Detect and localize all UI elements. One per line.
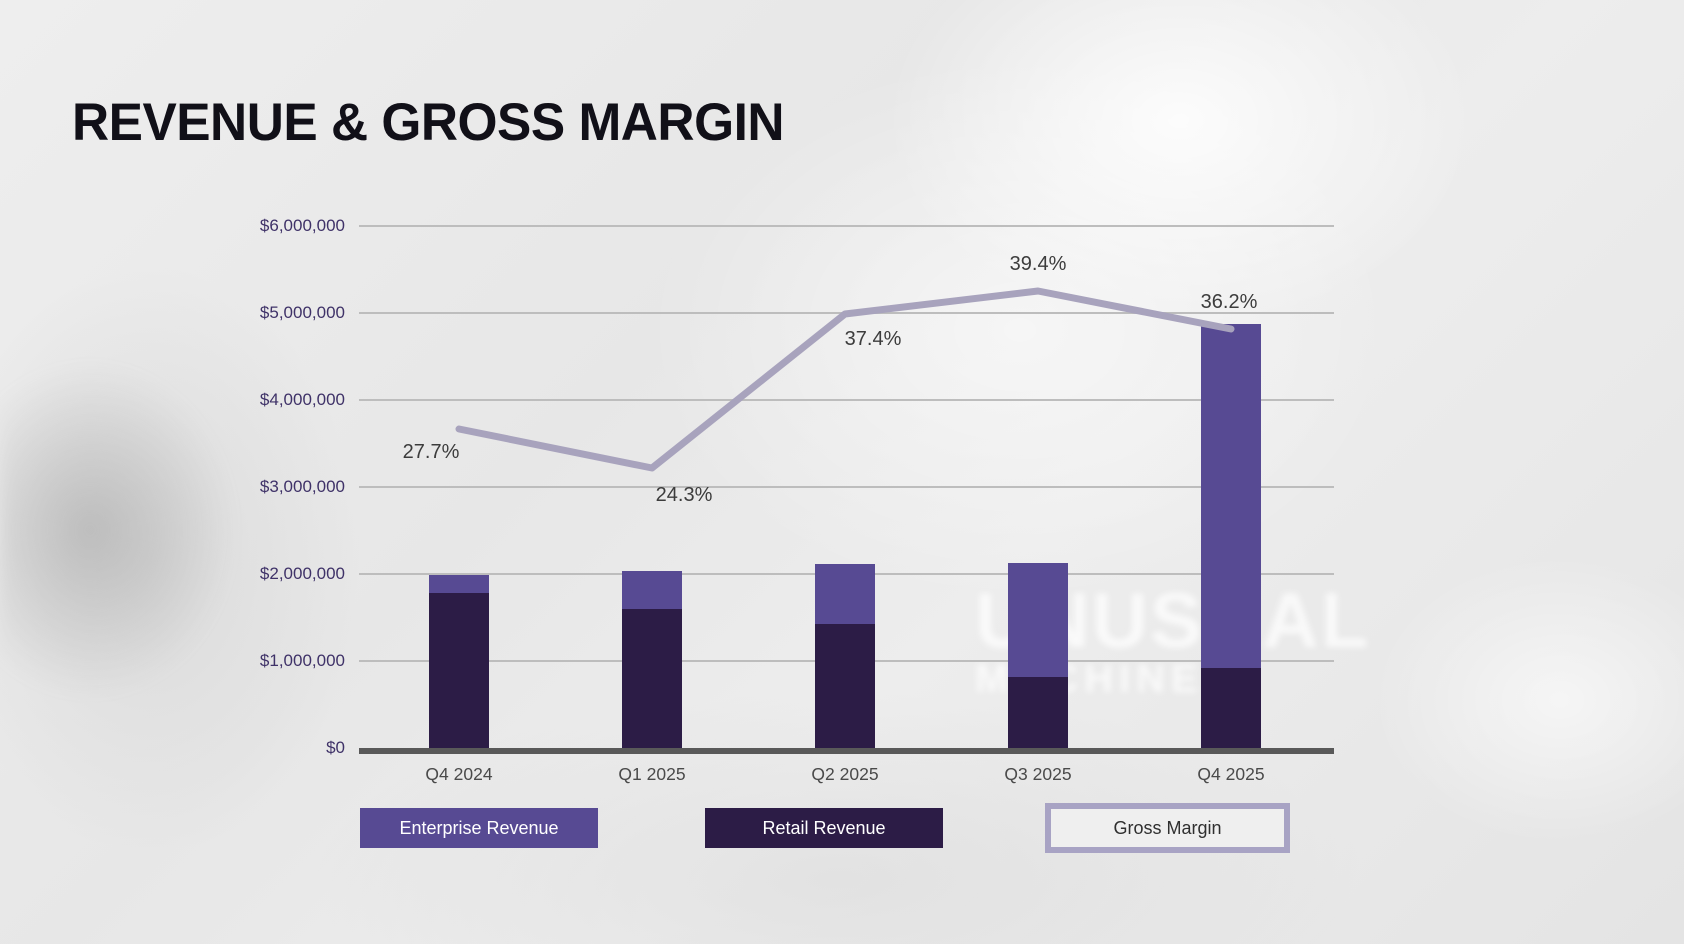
legend-item-enterprise-revenue[interactable]: Enterprise Revenue	[360, 808, 598, 848]
legend-item-retail-revenue[interactable]: Retail Revenue	[705, 808, 943, 848]
chart-legend: Enterprise RevenueRetail RevenueGross Ma…	[0, 0, 1684, 944]
legend-item-gross-margin[interactable]: Gross Margin	[1045, 803, 1290, 853]
